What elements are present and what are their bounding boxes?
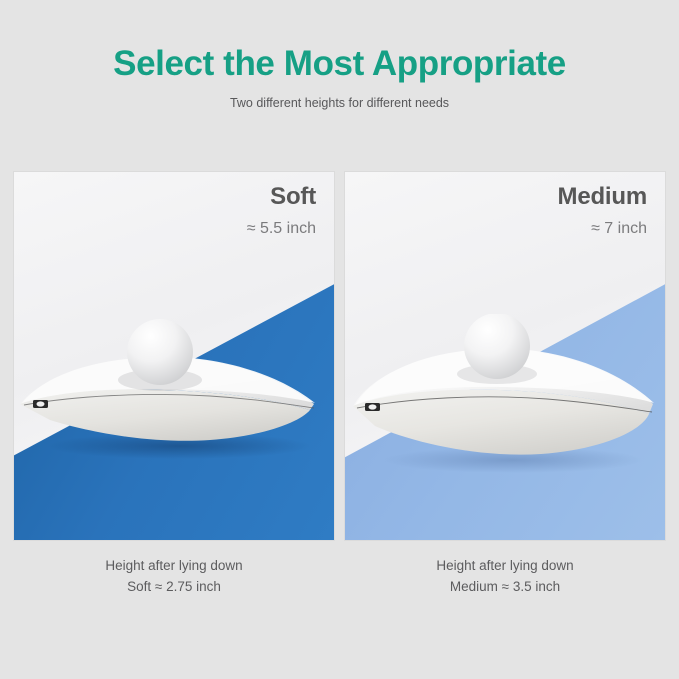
panel-soft-height: ≈ 5.5 inch (247, 219, 316, 238)
caption-soft-line2: Soft ≈ 2.75 inch (14, 577, 334, 598)
panel-soft[interactable]: Soft ≈ 5.5 inch (14, 172, 334, 540)
panel-medium[interactable]: Medium ≈ 7 inch (345, 172, 665, 540)
pillow-brand-tag (33, 400, 48, 408)
panel-medium-labels: Medium ≈ 7 inch (558, 182, 647, 238)
panel-captions: Height after lying down Soft ≈ 2.75 inch… (14, 556, 665, 598)
panel-medium-height: ≈ 7 inch (558, 219, 647, 238)
panel-soft-name: Soft (247, 182, 316, 212)
page-subtitle: Two different heights for different need… (0, 84, 679, 110)
panel-soft-labels: Soft ≈ 5.5 inch (247, 182, 316, 238)
caption-soft: Height after lying down Soft ≈ 2.75 inch (14, 556, 334, 598)
weight-ball (127, 319, 193, 385)
weight-ball (464, 314, 530, 379)
panel-medium-name: Medium (558, 182, 647, 212)
comparison-panels: Soft ≈ 5.5 inch (14, 172, 665, 540)
page-header: Select the Most Appropriate Two differen… (0, 0, 679, 110)
pillow-soft-artwork (14, 318, 334, 468)
pillow-medium-artwork (345, 314, 665, 484)
caption-medium-line1: Height after lying down (345, 556, 665, 577)
caption-medium: Height after lying down Medium ≈ 3.5 inc… (345, 556, 665, 598)
caption-medium-line2: Medium ≈ 3.5 inch (345, 577, 665, 598)
page-title: Select the Most Appropriate (0, 0, 679, 84)
caption-soft-line1: Height after lying down (14, 556, 334, 577)
pillow-brand-tag (365, 403, 380, 411)
